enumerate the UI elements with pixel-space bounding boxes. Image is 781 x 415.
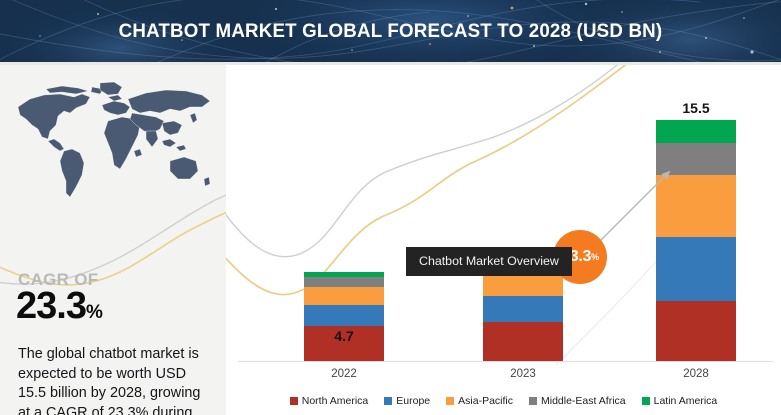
segment-europe-2022[interactable]	[304, 305, 384, 326]
infographic-root: CHATBOT MARKET GLOBAL FORECAST TO 2028 (…	[0, 0, 781, 415]
segment-north-america-2023[interactable]	[483, 322, 563, 361]
legend-item-asia-pacific[interactable]: Asia-Pacific	[446, 395, 513, 407]
legend-label-north-america: North America	[302, 395, 369, 407]
chart-legend: North America Europe Asia-Pacific Middle…	[226, 390, 781, 412]
segment-asia-pacific-2022[interactable]	[304, 287, 384, 305]
segment-asia-pacific-2023[interactable]	[483, 276, 563, 296]
legend-item-latin-america[interactable]: Latin America	[642, 395, 718, 407]
legend-swatch-europe	[384, 397, 392, 405]
legend-swatch-latin-america	[642, 397, 650, 405]
segment-north-america-2028[interactable]	[656, 301, 736, 361]
legend-swatch-middle-east-africa	[529, 397, 537, 405]
legend-swatch-asia-pacific	[446, 397, 454, 405]
cagr-bubble-unit: %	[591, 252, 599, 262]
legend-swatch-north-america	[290, 397, 298, 405]
bar-value-2028: 15.5	[656, 100, 736, 116]
panel-description: The global chatbot market is expected to…	[18, 345, 214, 415]
header-banner: CHATBOT MARKET GLOBAL FORECAST TO 2028 (…	[0, 0, 781, 62]
legend-item-north-america[interactable]: North America	[290, 395, 369, 407]
bar-2022[interactable]	[304, 272, 384, 361]
cagr-percent-sign: %	[86, 302, 103, 323]
legend-item-europe[interactable]: Europe	[384, 395, 430, 407]
legend-label-asia-pacific: Asia-Pacific	[458, 395, 513, 407]
bar-value-2022: 4.7	[304, 328, 384, 344]
page-title: CHATBOT MARKET GLOBAL FORECAST TO 2028 (…	[16, 0, 766, 62]
stacked-bar-plot: 4.7 2022 2023 15.5 2028	[226, 65, 781, 415]
segment-middle-east-africa-2022[interactable]	[304, 277, 384, 287]
chart-overview-label[interactable]: Chatbot Market Overview	[406, 247, 572, 276]
chart-area: 4.7 2022 2023 15.5 2028	[226, 65, 781, 415]
segment-europe-2023[interactable]	[483, 296, 563, 322]
category-label-2022: 2022	[304, 368, 384, 380]
x-axis-line	[238, 361, 773, 362]
segment-latin-america-2028[interactable]	[656, 120, 736, 143]
category-label-2028: 2028	[656, 368, 736, 380]
legend-label-latin-america: Latin America	[654, 395, 718, 407]
left-summary-panel: CAGR OF 23.3% The global chatbot market …	[0, 65, 226, 415]
cagr-value: 23.3%	[16, 287, 103, 325]
category-label-2023: 2023	[483, 368, 563, 380]
cagr-number: 23.3	[16, 285, 86, 327]
legend-label-middle-east-africa: Middle-East Africa	[541, 395, 626, 407]
legend-label-europe: Europe	[396, 395, 430, 407]
legend-item-middle-east-africa[interactable]: Middle-East Africa	[529, 395, 626, 407]
